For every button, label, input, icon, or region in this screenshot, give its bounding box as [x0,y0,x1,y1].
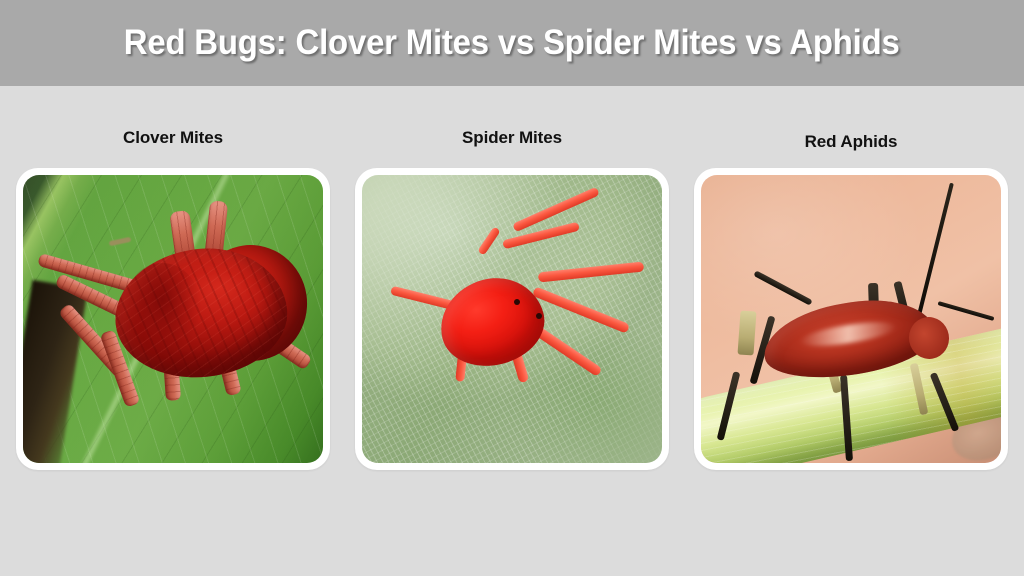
spider-mite-photo [362,175,662,463]
card-caption-spider-mites: Spider Mites [355,128,669,148]
page-title: Red Bugs: Clover Mites vs Spider Mites v… [124,23,900,63]
comparison-gallery: Clover Mites [0,86,1024,576]
card-caption-red-aphids: Red Aphids [694,132,1008,152]
photo-frame-spider-mites[interactable] [355,168,669,470]
mite-eye [514,299,520,305]
photo-frame-red-aphids[interactable] [694,168,1008,470]
red-aphid-photo [701,175,1001,463]
slide-root: Red Bugs: Clover Mites vs Spider Mites v… [0,0,1024,576]
photo-frame-clover-mites[interactable] [16,168,330,470]
clover-mite-photo [23,175,323,463]
card-caption-clover-mites: Clover Mites [16,128,330,148]
mite-eye [536,313,542,319]
header-band: Red Bugs: Clover Mites vs Spider Mites v… [0,0,1024,86]
aphid-leg [737,310,756,355]
